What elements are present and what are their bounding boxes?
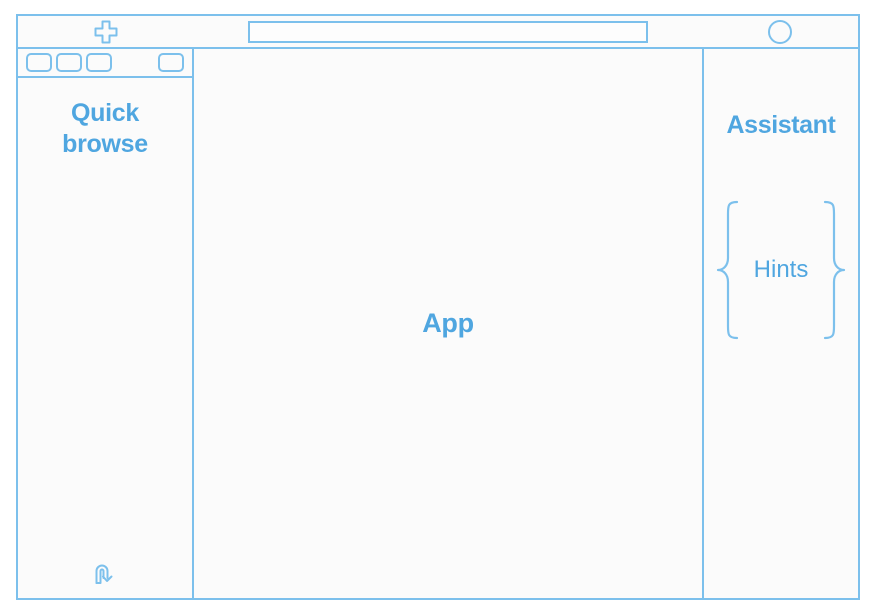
- assistant-title: Assistant: [727, 111, 836, 140]
- sidebar-footer: [18, 558, 192, 588]
- u-turn-arrow-icon[interactable]: [90, 558, 120, 588]
- sidebar: Quick browse: [18, 49, 194, 598]
- top-bar-search-section: [194, 16, 702, 47]
- right-curly-brace-icon: [821, 200, 847, 340]
- wireframe-root: Quick browse App Assistant: [16, 14, 860, 600]
- sidebar-toolbar: [18, 49, 192, 78]
- plus-icon[interactable]: [93, 19, 119, 45]
- app-panel: App: [194, 49, 704, 598]
- sidebar-tool-button-3[interactable]: [86, 53, 112, 72]
- left-curly-brace-icon: [715, 200, 741, 340]
- app-label: App: [422, 308, 474, 339]
- top-bar-right-section: [702, 16, 858, 47]
- top-bar-left-section: [18, 16, 194, 47]
- sidebar-tool-button-1[interactable]: [26, 53, 52, 72]
- sidebar-tool-button-4[interactable]: [158, 53, 184, 72]
- assistant-panel: Assistant Hints: [704, 49, 858, 598]
- circle-avatar-icon[interactable]: [768, 20, 792, 44]
- body-region: Quick browse App Assistant: [16, 49, 860, 600]
- hints-block: Hints: [711, 200, 851, 340]
- hints-label: Hints: [754, 256, 809, 284]
- sidebar-tool-button-2[interactable]: [56, 53, 82, 72]
- sidebar-title: Quick browse: [18, 98, 192, 161]
- top-bar: [16, 14, 860, 49]
- search-input[interactable]: [248, 21, 648, 43]
